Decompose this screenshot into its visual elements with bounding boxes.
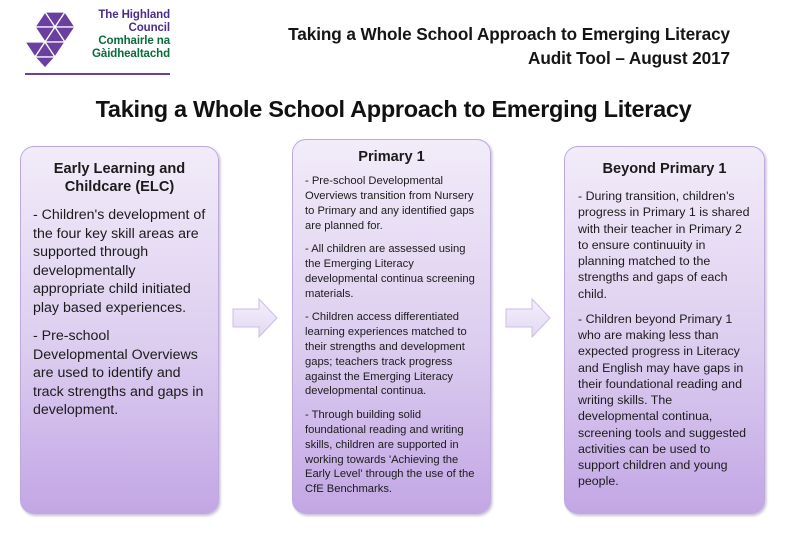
stage-card-body: - Children's development of the four key… — [31, 202, 208, 419]
stage-card-body: - Pre-school Developmental Overviews tra… — [303, 172, 480, 497]
stage-card-title: Early Learning and Childcare (ELC) — [31, 154, 208, 196]
stage-card-title: Beyond Primary 1 — [575, 154, 754, 178]
header-title-line2: Audit Tool – August 2017 — [172, 46, 756, 70]
stage-card-primary-1: Primary 1 - Pre-school Developmental Ove… — [292, 139, 491, 514]
stage-card-beyond-primary-1: Beyond Primary 1 - During transition, ch… — [564, 146, 765, 514]
logo-gaelic-line2: Gàidhealtachd — [82, 48, 170, 61]
document-header: The Highland Council Comhairle na Gàidhe… — [0, 0, 787, 92]
logo-english-line1: The Highland — [82, 9, 170, 22]
header-title-line1: Taking a Whole School Approach to Emergi… — [172, 22, 756, 46]
stage-paragraph: - Children's development of the four key… — [33, 206, 207, 317]
stage-paragraph: - During transition, children's progress… — [578, 188, 752, 302]
highland-council-diamond-icon — [24, 11, 80, 69]
arrow-primary1-to-beyond-icon — [505, 296, 551, 340]
stage-card-body: - During transition, children's progress… — [575, 184, 754, 490]
arrow-elc-to-primary1-icon — [232, 296, 278, 340]
stage-paragraph: - Children access differentiated learnin… — [305, 310, 479, 399]
logo-gaelic-line1: Comhairle na — [82, 35, 170, 48]
logo-wordmark: The Highland Council Comhairle na Gàidhe… — [82, 9, 170, 61]
stage-paragraph: - Pre-school Developmental Overviews tra… — [305, 174, 479, 233]
stage-paragraph: - Through building solid foundational re… — [305, 408, 479, 497]
highland-council-logo: The Highland Council Comhairle na Gàidhe… — [24, 9, 170, 77]
stage-card-title: Primary 1 — [303, 147, 480, 166]
progression-flow-diagram: Early Learning and Childcare (ELC) - Chi… — [0, 139, 787, 539]
logo-english-line2: Council — [82, 22, 170, 35]
document-page: The Highland Council Comhairle na Gàidhe… — [0, 0, 787, 549]
stage-paragraph: - All children are assessed using the Em… — [305, 242, 479, 301]
stage-card-early-learning-and-childcare: Early Learning and Childcare (ELC) - Chi… — [20, 146, 219, 514]
logo-underline-rule — [25, 73, 170, 75]
page-title: Taking a Whole School Approach to Emergi… — [0, 96, 787, 123]
stage-paragraph: - Pre-school Developmental Overviews are… — [33, 327, 207, 419]
stage-paragraph: - Children beyond Primary 1 who are maki… — [578, 311, 752, 490]
header-title: Taking a Whole School Approach to Emergi… — [172, 22, 756, 71]
